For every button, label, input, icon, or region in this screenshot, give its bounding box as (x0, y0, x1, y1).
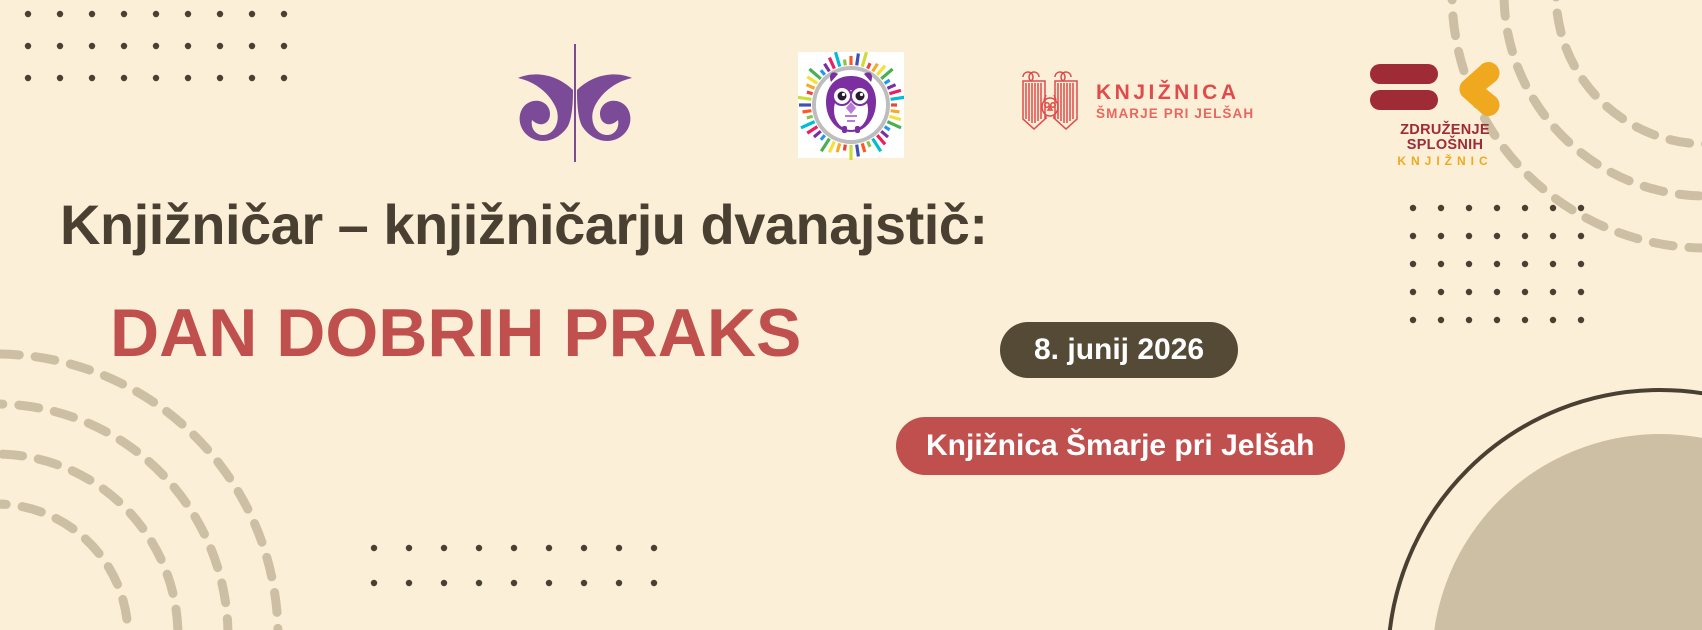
zsk-logo-line2: KNJIŽNIC (1370, 155, 1520, 167)
knjiznica-logo-text: KNJIŽNICA ŠMARJE PRI JELŠAH (1096, 82, 1254, 121)
knjiznica-smarje-pri-jelsah-logo: KNJIŽNICA ŠMARJE PRI JELŠAH (1018, 66, 1258, 136)
zsk-mark-icon (1370, 60, 1520, 118)
knjiznica-logo-line2: ŠMARJE PRI JELŠAH (1096, 107, 1254, 121)
zdruzenje-splosnih-knjiznic-logo: ZDRUŽENJE SPLOŠNIH KNJIŽNIC (1370, 60, 1520, 152)
event-banner: KNJIŽNICA ŠMARJE PRI JELŠAH ZDRUŽENJE SP… (0, 0, 1702, 630)
owl-books-logo (798, 46, 904, 164)
zsk-logo-text: ZDRUŽENJE SPLOŠNIH KNJIŽNIC (1370, 123, 1520, 167)
butterfly-logo (510, 38, 640, 168)
column-owl-mark-icon (1018, 67, 1084, 135)
decorative-dot-grid-bottom (371, 545, 657, 586)
decorative-arcs-bottom-left (0, 354, 278, 630)
knjiznica-logo-line1: KNJIŽNICA (1096, 82, 1254, 103)
event-title: DAN DOBRIH PRAKS (110, 294, 801, 372)
event-location-badge: Knjižnica Šmarje pri Jelšah (896, 417, 1345, 475)
event-subtitle: Knjižničar – knjižničarju dvanajstič: (60, 192, 988, 257)
zsk-logo-line1: ZDRUŽENJE SPLOŠNIH (1370, 123, 1520, 152)
event-date-badge: 8. junij 2026 (1000, 322, 1238, 378)
logo-strip: KNJIŽNICA ŠMARJE PRI JELŠAH ZDRUŽENJE SP… (0, 28, 1702, 158)
decorative-dot-grid-right (1410, 205, 1584, 323)
